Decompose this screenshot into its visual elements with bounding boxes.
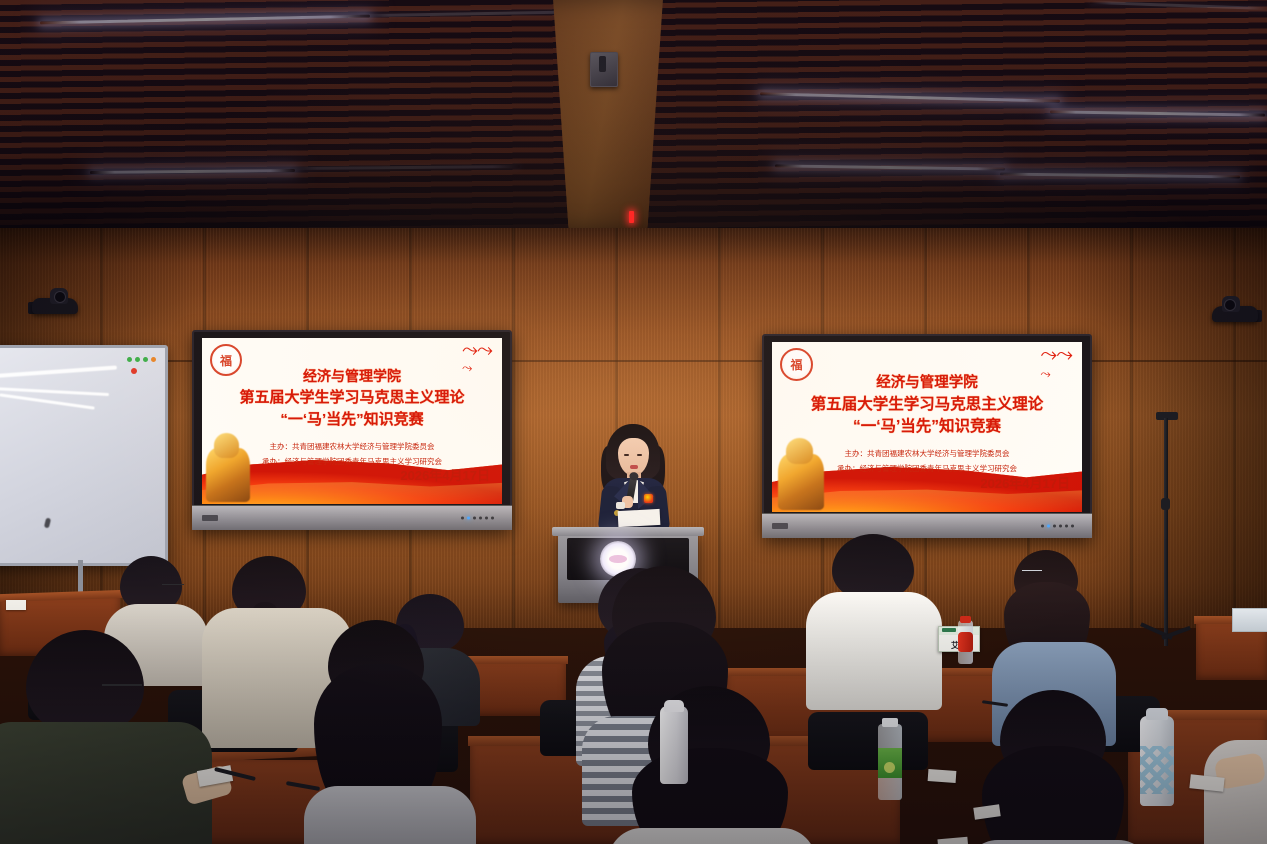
display-controls[interactable] bbox=[461, 517, 494, 520]
ceiling-light-strip bbox=[1000, 173, 1240, 179]
right-display[interactable]: 福 ⤳⤳⤳ 经济与管理学院 第五届大学生学习马克思主义理论 “一‘马’当先”知识… bbox=[762, 334, 1092, 538]
left-display-bezel bbox=[192, 505, 512, 530]
slide-host-line: 主办：共青团福建农林大学经济与管理学院委员会 bbox=[202, 441, 502, 452]
slide-subtitle-line: “一‘马’当先”知识竞赛 bbox=[772, 414, 1082, 436]
display-controls[interactable] bbox=[1041, 525, 1074, 528]
person-torso bbox=[304, 786, 476, 844]
bottle-cap bbox=[882, 718, 898, 727]
red-indicator-icon bbox=[629, 211, 634, 223]
bottle-label-fruit bbox=[884, 762, 895, 773]
whiteboard[interactable] bbox=[0, 345, 168, 566]
whiteboard-magnet-red[interactable] bbox=[131, 368, 137, 374]
bottle-cap bbox=[960, 616, 971, 623]
right-display-bezel bbox=[762, 513, 1092, 538]
slide-date: 2026年4月17日 bbox=[400, 465, 490, 484]
ceiling-light-strip bbox=[290, 165, 520, 170]
glasses-icon bbox=[162, 584, 184, 588]
display-brand-logo bbox=[202, 515, 218, 521]
person-torso bbox=[608, 828, 816, 844]
slide-org-line: 经济与管理学院 bbox=[772, 371, 1082, 392]
person-head bbox=[832, 534, 914, 600]
ceiling-device-icon bbox=[590, 52, 618, 87]
paper-card bbox=[937, 837, 968, 844]
slide-title-line: 第五届大学生学习马克思主义理论 bbox=[202, 386, 502, 407]
conference-camera-icon bbox=[1206, 296, 1262, 330]
slide-title-line: 第五届大学生学习马克思主义理论 bbox=[772, 392, 1082, 414]
conference-camera-icon bbox=[28, 288, 84, 322]
presenter-badge bbox=[644, 494, 653, 503]
lecture-hall-photo: 福 ⤳⤳⤳ 经济与管理学院 第五届大学生学习马克思主义理论 “一‘马’当先”知识… bbox=[0, 0, 1267, 844]
presentation-slide: 福 ⤳⤳⤳ 经济与管理学院 第五届大学生学习马克思主义理论 “一‘马’当先”知识… bbox=[772, 342, 1082, 512]
right-display-screen: 福 ⤳⤳⤳ 经济与管理学院 第五届大学生学习马克思主义理论 “一‘马’当先”知识… bbox=[772, 342, 1082, 512]
ceiling-light-strip bbox=[760, 92, 1060, 102]
tissue-box bbox=[1232, 608, 1267, 632]
chair bbox=[808, 712, 928, 770]
presenter-script bbox=[618, 509, 661, 527]
ceiling-light-strip bbox=[40, 15, 370, 25]
slide-date: 2026年4月17日 bbox=[980, 473, 1070, 492]
left-display-screen: 福 ⤳⤳⤳ 经济与管理学院 第五届大学生学习马克思主义理论 “一‘马’当先”知识… bbox=[202, 338, 502, 504]
ceiling-light-strip bbox=[775, 164, 1005, 170]
slide-host-line: 主办：共青团福建农林大学经济与管理学院委员会 bbox=[772, 448, 1082, 459]
light-stand-knob[interactable] bbox=[1161, 498, 1170, 510]
thermos-cap bbox=[1146, 708, 1168, 720]
slide-org-line: 经济与管理学院 bbox=[202, 366, 502, 386]
ceiling-light-strip bbox=[1090, 1, 1267, 10]
ceiling-light-strip bbox=[90, 169, 295, 174]
person-torso bbox=[964, 840, 1152, 844]
left-display[interactable]: 福 ⤳⤳⤳ 经济与管理学院 第五届大学生学习马克思主义理论 “一‘马’当先”知识… bbox=[192, 330, 512, 530]
person-torso bbox=[806, 592, 942, 710]
presentation-slide: 福 ⤳⤳⤳ 经济与管理学院 第五届大学生学习马克思主义理论 “一‘马’当先”知识… bbox=[202, 338, 502, 504]
thermos-cap bbox=[664, 700, 684, 712]
glasses-icon bbox=[1022, 570, 1042, 574]
light-stand-pole bbox=[1164, 418, 1168, 646]
presenter bbox=[592, 424, 676, 542]
bottle-label bbox=[958, 632, 973, 652]
paper-card bbox=[928, 769, 957, 783]
glasses-icon bbox=[102, 684, 142, 689]
slide-subtitle-line: “一‘马’当先”知识竞赛 bbox=[202, 408, 502, 429]
whiteboard-magnets[interactable] bbox=[127, 357, 156, 362]
paper-card bbox=[6, 600, 26, 610]
ceiling-light-strip bbox=[1050, 110, 1265, 116]
display-brand-logo bbox=[772, 523, 788, 529]
blue-pattern-thermos bbox=[1140, 716, 1174, 806]
white-thermos bbox=[660, 706, 688, 784]
person-torso bbox=[0, 722, 212, 844]
